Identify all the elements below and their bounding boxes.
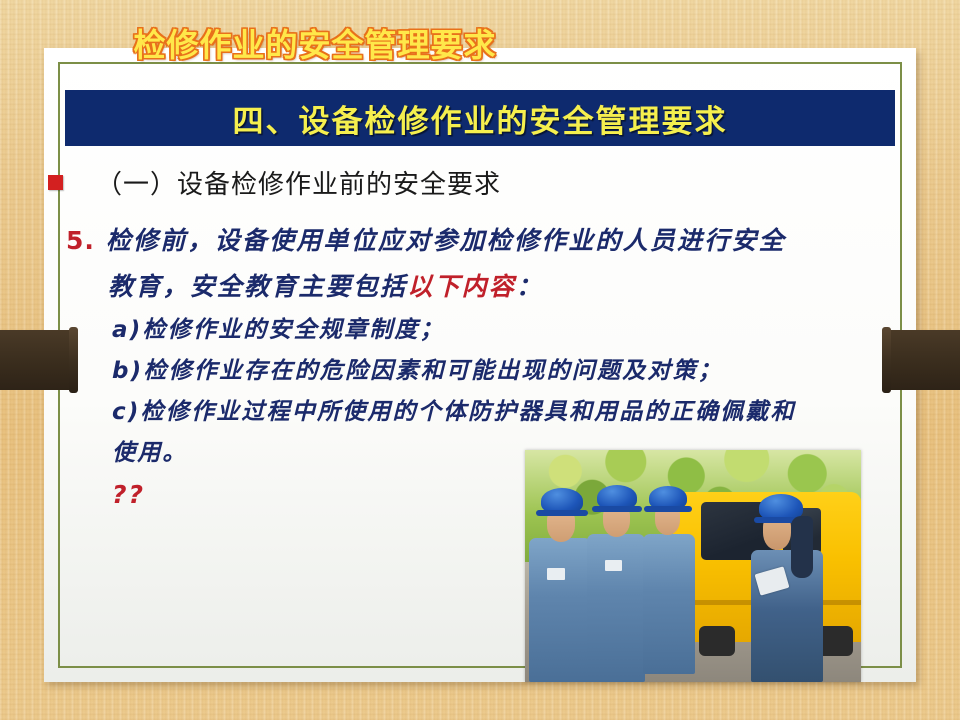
photo-worker-2-helmet	[597, 485, 637, 510]
slide-overlay-title: 检修作业的安全管理要求	[0, 20, 960, 66]
body-line-1: 5. 检修前，设备使用单位应对参加检修作业的人员进行安全	[66, 218, 946, 264]
decorative-band-left	[0, 330, 78, 390]
decorative-band-right	[882, 330, 960, 390]
body-item-b: b)检修作业存在的危险因素和可能出现的问题及对策；	[66, 351, 946, 392]
photo-worker-2-body	[587, 534, 645, 682]
item-number: 5.	[66, 226, 95, 255]
decorative-band-right-cap	[882, 327, 891, 393]
photo-worker-2-badge	[605, 560, 622, 571]
body-item-c: c)检修作业过程中所使用的个体防护器具和用品的正确佩戴和	[66, 392, 946, 433]
subheading-text: （一）设备检修作业前的安全要求	[96, 164, 501, 201]
red-square-bullet-icon	[48, 175, 63, 190]
decorative-band-left-cap	[69, 327, 78, 393]
photo-worker-3-helmet	[649, 486, 687, 510]
photo-worker-1-helmet	[541, 488, 583, 514]
slide-heading-bar: 四、设备检修作业的安全管理要求	[65, 90, 895, 146]
workers-safety-briefing-photo	[525, 450, 861, 682]
presentation-slide: 检修作业的安全管理要求 四、设备检修作业的安全管理要求 （一）设备检修作业前的安…	[0, 0, 960, 720]
body-line-2: 教育，安全教育主要包括以下内容：	[66, 264, 946, 310]
body-item-a: a)检修作业的安全规章制度；	[66, 310, 946, 351]
slide-heading-text: 四、设备检修作业的安全管理要求	[233, 96, 728, 141]
photo-worker-1-body	[529, 538, 591, 682]
photo-truck-wheel-front	[699, 626, 735, 656]
photo-worker-3-body	[643, 534, 695, 674]
photo-supervisor-hair	[791, 516, 813, 578]
body-line-2-navy: 教育，安全教育主要包括	[108, 272, 407, 301]
body-line-2-emphasis: 以下内容	[407, 272, 516, 301]
photo-worker-1-badge	[547, 568, 565, 580]
body-line-1-text: 检修前，设备使用单位应对参加检修作业的人员进行安全	[106, 226, 786, 255]
subheading-row: （一）设备检修作业前的安全要求	[48, 163, 868, 201]
body-line-2-colon: ：	[516, 272, 543, 301]
